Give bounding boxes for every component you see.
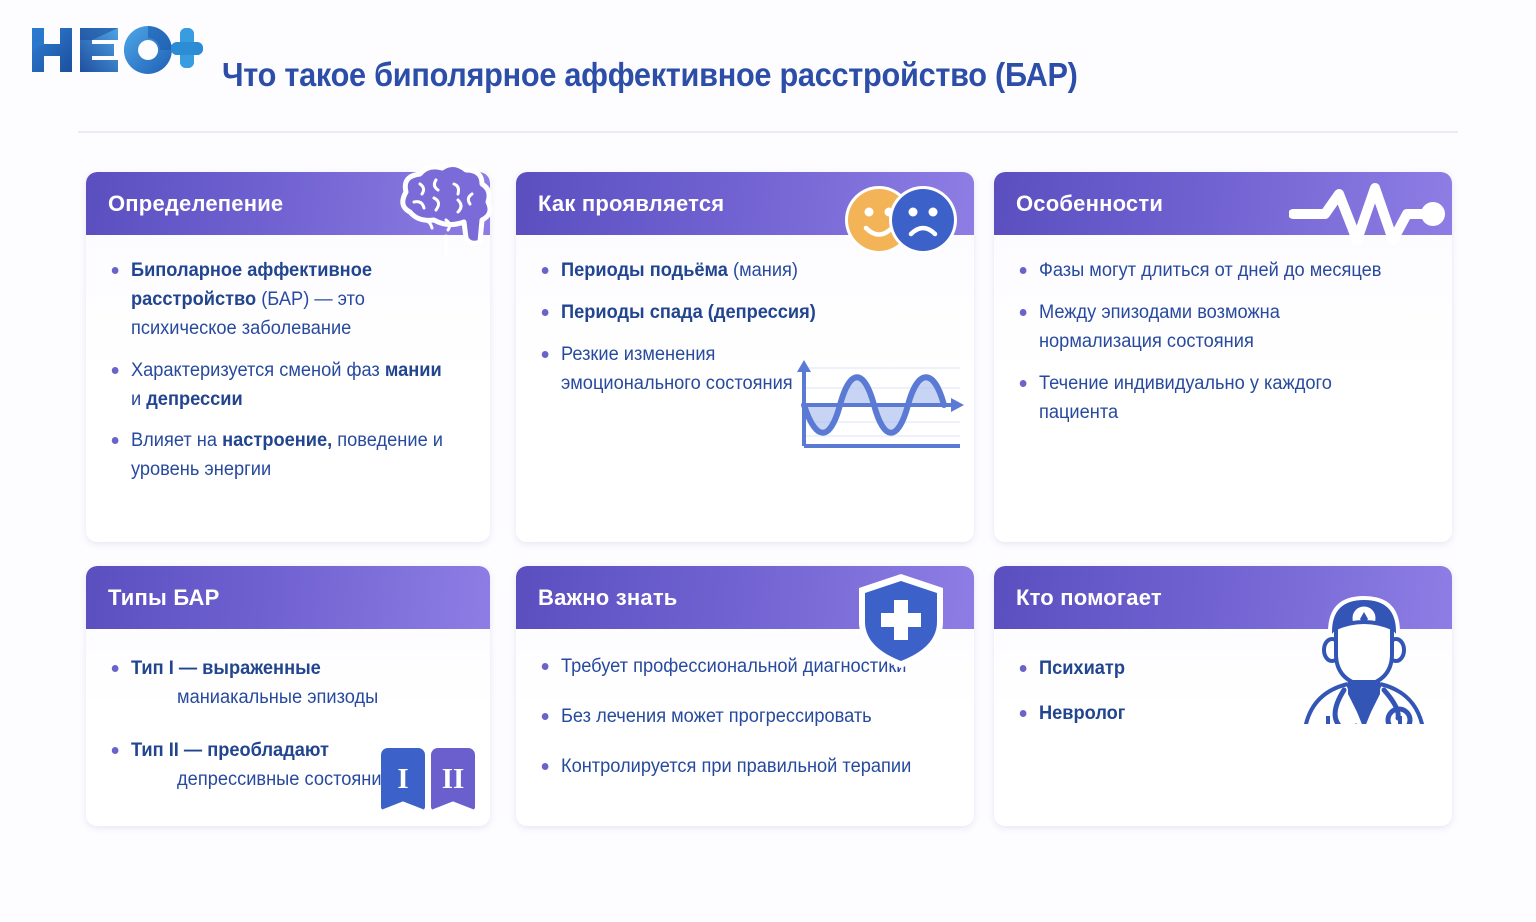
- bullet-bold-text-2: депрессии: [146, 389, 243, 410]
- card-features: Особенности Фазы могут длиться от дней д…: [994, 172, 1452, 542]
- type-badge-one: I: [381, 748, 425, 810]
- card-manifestation: Как проявляется Периоды подьёма (мания) …: [516, 172, 974, 542]
- bullet-bold-text: Периоды спада (депрессия): [561, 302, 816, 323]
- bullet-sub-text: маниакальные эпизоды: [131, 684, 455, 713]
- card-important: Важно знать Требует профессиональной диа…: [516, 566, 974, 826]
- features-bullet-list: Фазы могут длиться от дней до месяцев Ме…: [1014, 257, 1432, 427]
- list-item: Биполарное аффективное расстройство (БАР…: [106, 257, 455, 344]
- card-features-title: Особенности: [1016, 191, 1163, 217]
- bullet-plain-text: Фазы могут длиться от дней до месяцев: [1039, 260, 1382, 281]
- list-item: Течение индивидуально у каждого пациента: [1014, 370, 1415, 428]
- bullet-bold-text: Тип II — преобладают: [131, 740, 329, 761]
- bullet-plain-text: Без лечения может прогрессировать: [561, 706, 872, 727]
- card-types-title: Типы БАР: [108, 585, 219, 611]
- bullet-rest-text: (мания): [728, 260, 798, 281]
- list-item: Между эпизодами возможна нормализация со…: [1014, 299, 1356, 357]
- card-definition-header: Определепение: [86, 172, 490, 235]
- type-badge-two: II: [431, 748, 475, 810]
- card-types: Типы БАР Тип I — выраженные маниакальные…: [86, 566, 490, 826]
- type-badges-icon: I II: [381, 748, 475, 810]
- bullet-mid: и: [131, 389, 146, 410]
- card-manifestation-header: Как проявляется: [516, 172, 974, 235]
- card-types-header: Типы БАР: [86, 566, 490, 629]
- bullet-pre: Влияет на: [131, 430, 222, 451]
- bullet-plain-text: Течение индивидуально у каждого пациента: [1039, 373, 1332, 423]
- list-item: Психиатр: [1014, 655, 1415, 684]
- card-grid: Определепение Биполарное аффективное рас…: [0, 0, 1536, 922]
- bullet-pre: Характеризуется сменой фаз: [131, 360, 385, 381]
- card-features-header: Особенности: [994, 172, 1452, 235]
- card-important-header: Важно знать: [516, 566, 974, 629]
- list-item: Характеризуется сменой фаз мании и депре…: [106, 357, 455, 415]
- card-definition-title: Определепение: [108, 191, 283, 217]
- list-item: Тип I — выраженные маниакальные эпизоды: [106, 655, 455, 713]
- definition-bullet-list: Биполарное аффективное расстройство (БАР…: [106, 257, 470, 485]
- important-bullet-list: Требует профессиональной диагностики Без…: [536, 653, 954, 782]
- manifestation-bullet-list: Периоды подьёма (мания) Периоды спада (д…: [536, 257, 954, 399]
- bullet-bold-text: Тип I — выраженные: [131, 658, 321, 679]
- bullet-bold-text: настроение,: [222, 430, 332, 451]
- bullet-bold-text: Периоды подьёма: [561, 260, 728, 281]
- card-important-title: Важно знать: [538, 585, 678, 611]
- list-item: Требует профессиональной диагностики: [536, 653, 937, 682]
- card-who-helps: Кто помогает Психиатр Невролог: [994, 566, 1452, 826]
- bullet-plain-text: Контролируется при правильной терапии: [561, 756, 911, 777]
- who-helps-bullet-list: Психиатр Невролог: [1014, 655, 1432, 729]
- bullet-plain-text: Между эпизодами возможна нормализация со…: [1039, 302, 1280, 352]
- bullet-plain-text: Требует профессиональной диагностики: [561, 656, 907, 677]
- list-item: Периоды подьёма (мания): [536, 257, 937, 286]
- card-definition: Определепение Биполарное аффективное рас…: [86, 172, 490, 542]
- card-manifestation-title: Как проявляется: [538, 191, 724, 217]
- card-manifestation-body: Периоды подьёма (мания) Периоды спада (д…: [516, 235, 974, 542]
- list-item: Влияет на настроение, поведение и уровен…: [106, 427, 455, 485]
- bullet-bold-text: Психиатр: [1039, 658, 1125, 679]
- bullet-bold-text: мании: [385, 360, 442, 381]
- list-item: Без лечения может прогрессировать: [536, 703, 937, 732]
- list-item: Фазы могут длиться от дней до месяцев: [1014, 257, 1415, 286]
- bullet-plain-text: Резкие изменения эмоционального состояни…: [561, 344, 793, 394]
- card-important-body: Требует профессиональной диагностики Без…: [516, 629, 974, 826]
- card-who-helps-header: Кто помогает: [994, 566, 1452, 629]
- list-item: Невролог: [1014, 700, 1415, 729]
- list-item: Периоды спада (депрессия): [536, 299, 937, 328]
- card-who-helps-body: Психиатр Невролог: [994, 629, 1452, 826]
- card-definition-body: Биполарное аффективное расстройство (БАР…: [86, 235, 490, 542]
- bullet-bold-text: Невролог: [1039, 703, 1125, 724]
- card-features-body: Фазы могут длиться от дней до месяцев Ме…: [994, 235, 1452, 542]
- card-who-helps-title: Кто помогает: [1016, 585, 1162, 611]
- list-item: Контролируется при правильной терапии: [536, 753, 937, 782]
- list-item: Резкие изменения эмоционального состояни…: [536, 341, 806, 399]
